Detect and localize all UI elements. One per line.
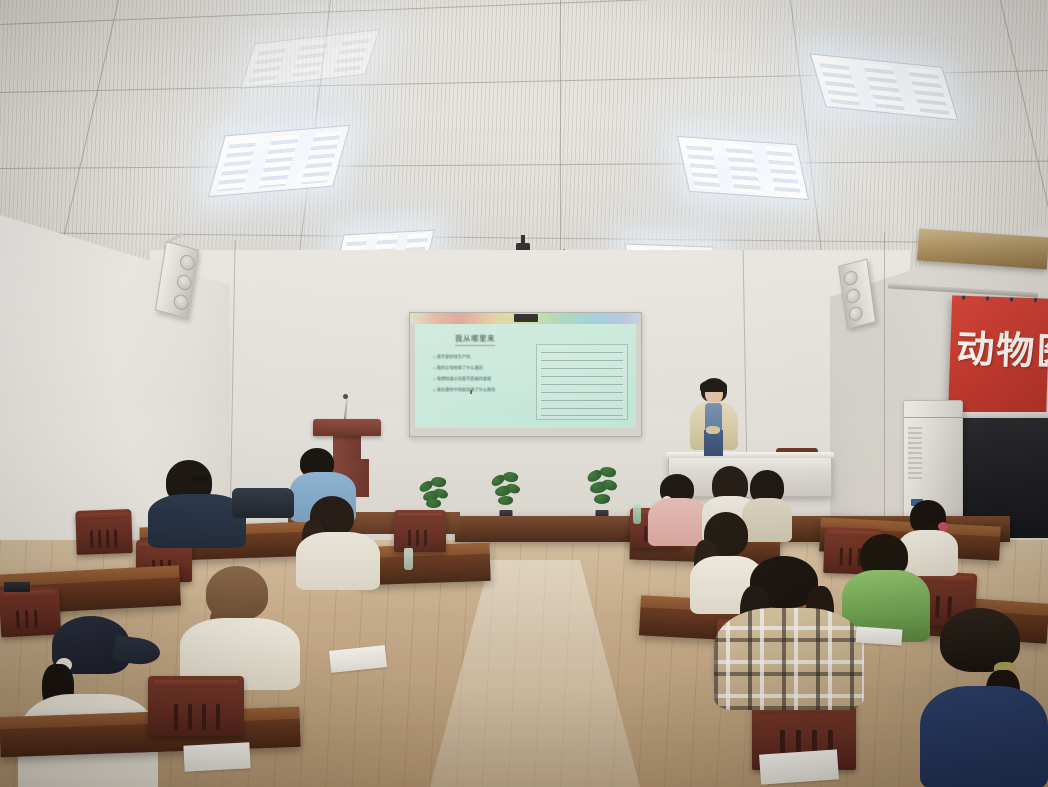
potted-plant [585, 466, 619, 520]
water-bottle [633, 504, 641, 524]
worksheet-paper [855, 626, 902, 645]
wall-corner-seam [884, 232, 885, 532]
slide-content: 我从哪里来 我不是妖怪生产的 我的父母给我了什么基因 我想知道父母是不是真的爱我… [415, 324, 636, 428]
slide-bullet: 我不是妖怪生产的 [433, 354, 470, 360]
ceiling-light-panel [677, 136, 809, 200]
student [18, 616, 158, 787]
student [296, 496, 382, 588]
screen-clamp-icon [514, 314, 538, 322]
banner-text: 动物医学 [956, 318, 1048, 376]
student [714, 556, 864, 706]
slide-title: 我从哪里来 [455, 333, 495, 344]
ac-vent-icon [908, 427, 922, 479]
slide-bullet: 我想知道父母是不是真的爱我 [433, 376, 491, 382]
potted-plant [490, 470, 522, 520]
ceiling-light-panel [208, 125, 350, 197]
student [920, 608, 1048, 787]
phone [4, 582, 30, 592]
backpack [232, 488, 294, 518]
student [180, 566, 300, 686]
slide-note-lines [536, 344, 628, 420]
slide-bullet: 我在遗传中到底扮演了什么角色 [433, 387, 495, 393]
slide-bullet: 我的父母给我了什么基因 [433, 365, 483, 371]
microphone-icon [343, 394, 348, 399]
lecture-hall-photo: 动物医学 我从哪里来 我不是妖怪生产的 我的父母给我了什么基因 我想知道父母是不… [0, 0, 1048, 787]
student-chair [75, 509, 133, 555]
presenter [686, 378, 742, 460]
projection-screen: 我从哪里来 我不是妖怪生产的 我的父母给我了什么基因 我想知道父母是不是真的爱我… [409, 312, 642, 437]
worksheet-paper [759, 749, 839, 784]
student-chair [394, 510, 446, 552]
water-bottle [404, 548, 413, 570]
student-chair [148, 676, 244, 736]
slide-marker [470, 390, 472, 394]
worksheet-paper [183, 742, 250, 771]
